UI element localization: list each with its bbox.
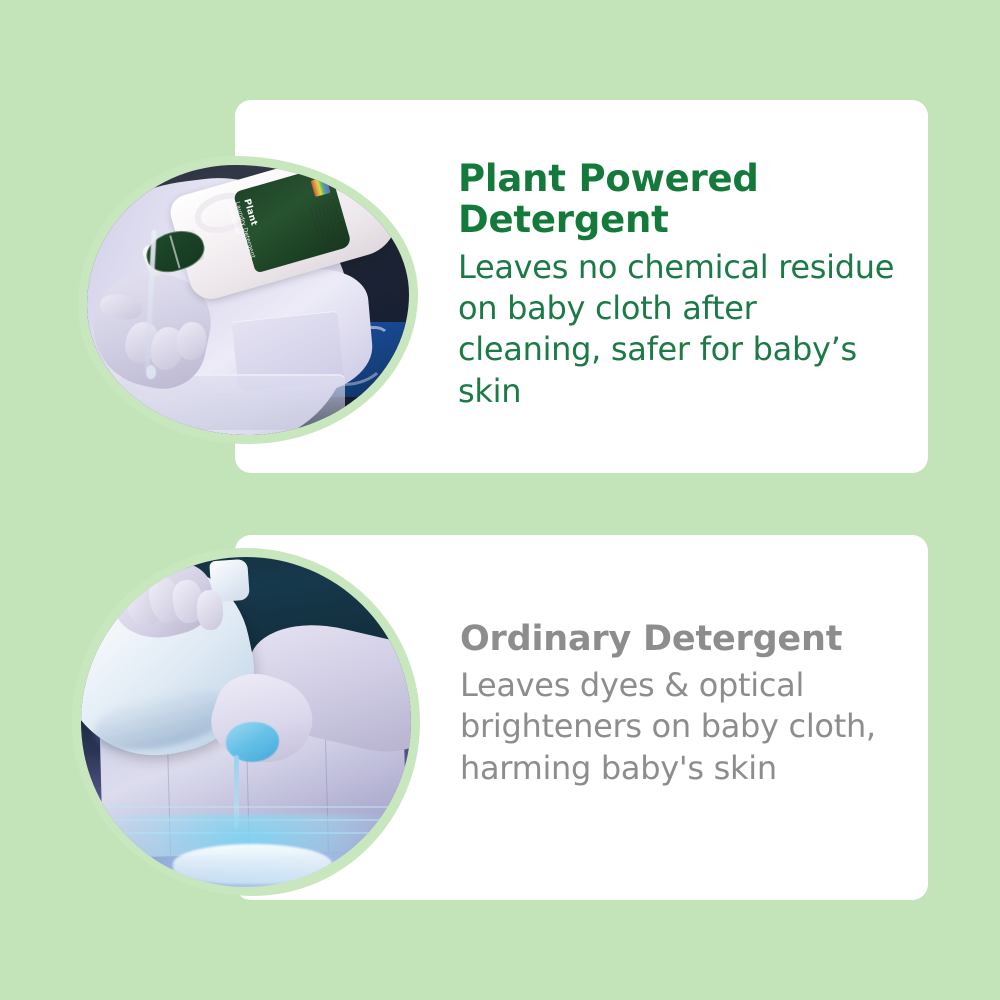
body-ordinary-detergent: Leaves dyes & optical brighteners on bab… [460,665,910,789]
brand-badge-mark [170,235,181,268]
bottle-label: Plant Laundry Detergent for Babies [233,165,353,273]
photo-ordinary-detergent [72,548,420,896]
photo-plant-powered-detergent: Plant Laundry Detergent for Babies [78,156,418,444]
text-block-ordinary: Ordinary Detergent Leaves dyes & optical… [460,620,910,789]
glow-line [101,806,391,808]
heading-plant-powered: Plant Powered Detergent [458,158,908,241]
lab-scene-background: Plant Laundry Detergent for Babies [87,165,409,435]
photo-plant-powered-inner: Plant Laundry Detergent for Babies [87,165,409,435]
label-fine-print [310,200,347,249]
body-plant-powered: Leaves no chemical residue on baby cloth… [458,247,908,412]
bottle-label-text: Plant Laundry Detergent for Babies [226,197,271,274]
liquid-droplet [146,365,156,379]
text-block-plant-powered: Plant Powered Detergent Leaves no chemic… [458,158,908,412]
detergent-foam [173,844,331,884]
photo-ordinary-inner [81,557,411,887]
color-swatch-strip [311,176,331,197]
glove-finger [196,590,224,630]
heading-ordinary-detergent: Ordinary Detergent [460,620,910,659]
comparison-infographic: Plant Laundry Detergent for Babies Plant… [0,0,1000,1000]
ordinary-scene-background [81,557,411,887]
